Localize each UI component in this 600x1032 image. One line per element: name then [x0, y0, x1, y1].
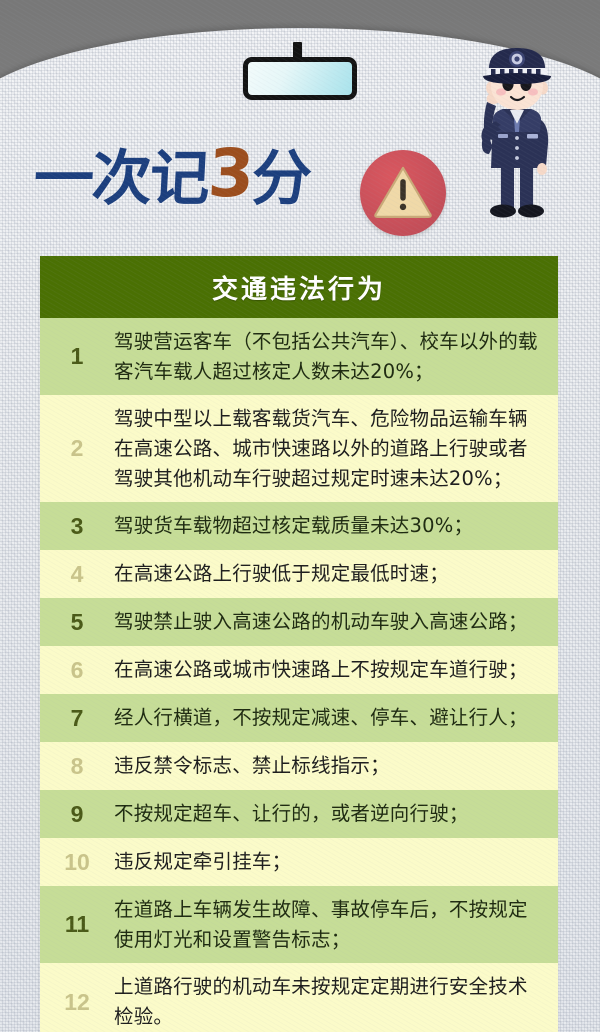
violation-table: 交通违法行为 1 驾驶营运客车（不包括公共汽车）、校车以外的载客汽车载人超过核定…: [40, 256, 558, 1032]
table-row[interactable]: 3 驾驶货车载物超过核定载质量未达30%；: [40, 502, 558, 550]
poster-root: 一次记3分: [0, 0, 600, 1032]
page-title: 一次记3分: [32, 144, 311, 210]
row-text: 驾驶营运客车（不包括公共汽车）、校车以外的载客汽车载人超过核定人数未达20%；: [114, 318, 558, 395]
table-row[interactable]: 11 在道路上车辆发生故障、事故停车后，不按规定使用灯光和设置警告标志；: [40, 886, 558, 963]
row-text: 驾驶中型以上载客载货汽车、危险物品运输车辆在高速公路、城市快速路以外的道路上行驶…: [114, 395, 558, 502]
row-text: 驾驶货车载物超过核定载质量未达30%；: [114, 502, 558, 550]
title-suffix: 分: [250, 144, 312, 214]
rearview-mirror-icon: [243, 57, 357, 100]
warning-badge: [360, 150, 446, 236]
table-row[interactable]: 9 不按规定超车、让行的，或者逆向行驶；: [40, 790, 558, 838]
row-number: 3: [40, 513, 114, 540]
table-row[interactable]: 1 驾驶营运客车（不包括公共汽车）、校车以外的载客汽车载人超过核定人数未达20%…: [40, 318, 558, 395]
row-text: 在高速公路或城市快速路上不按规定车道行驶；: [114, 646, 558, 694]
row-text: 经人行横道，不按规定减速、停车、避让行人；: [114, 694, 558, 742]
table-row[interactable]: 8 违反禁令标志、禁止标线指示；: [40, 742, 558, 790]
row-number: 11: [40, 911, 114, 938]
row-number: 9: [40, 801, 114, 828]
warning-triangle-icon: [372, 164, 434, 220]
table-row[interactable]: 5 驾驶禁止驶入高速公路的机动车驶入高速公路；: [40, 598, 558, 646]
row-number: 1: [40, 343, 114, 370]
table-row[interactable]: 12 上道路行驶的机动车未按规定定期进行安全技术检验。: [40, 963, 558, 1032]
row-number: 7: [40, 705, 114, 732]
table-row[interactable]: 6 在高速公路或城市快速路上不按规定车道行驶；: [40, 646, 558, 694]
row-text: 在道路上车辆发生故障、事故停车后，不按规定使用灯光和设置警告标志；: [114, 886, 558, 963]
row-number: 2: [40, 435, 114, 462]
row-number: 5: [40, 609, 114, 636]
row-text: 上道路行驶的机动车未按规定定期进行安全技术检验。: [114, 963, 558, 1032]
title-prefix: 一次记: [32, 144, 210, 214]
table-row[interactable]: 7 经人行横道，不按规定减速、停车、避让行人；: [40, 694, 558, 742]
row-text: 违反规定牵引挂车；: [114, 838, 558, 886]
table-row[interactable]: 10 违反规定牵引挂车；: [40, 838, 558, 886]
police-officer-salute-icon: [463, 28, 571, 228]
row-number: 4: [40, 561, 114, 588]
row-number: 10: [40, 849, 114, 876]
table-row[interactable]: 4 在高速公路上行驶低于规定最低时速；: [40, 550, 558, 598]
row-text: 违反禁令标志、禁止标线指示；: [114, 742, 558, 790]
row-number: 6: [40, 657, 114, 684]
row-number: 8: [40, 753, 114, 780]
row-number: 12: [40, 989, 114, 1016]
title-number: 3: [206, 141, 253, 207]
table-row[interactable]: 2 驾驶中型以上载客载货汽车、危险物品运输车辆在高速公路、城市快速路以外的道路上…: [40, 395, 558, 502]
row-text: 驾驶禁止驶入高速公路的机动车驶入高速公路；: [114, 598, 558, 646]
row-text: 在高速公路上行驶低于规定最低时速；: [114, 550, 558, 598]
row-text: 不按规定超车、让行的，或者逆向行驶；: [114, 790, 558, 838]
table-header: 交通违法行为: [40, 256, 558, 318]
